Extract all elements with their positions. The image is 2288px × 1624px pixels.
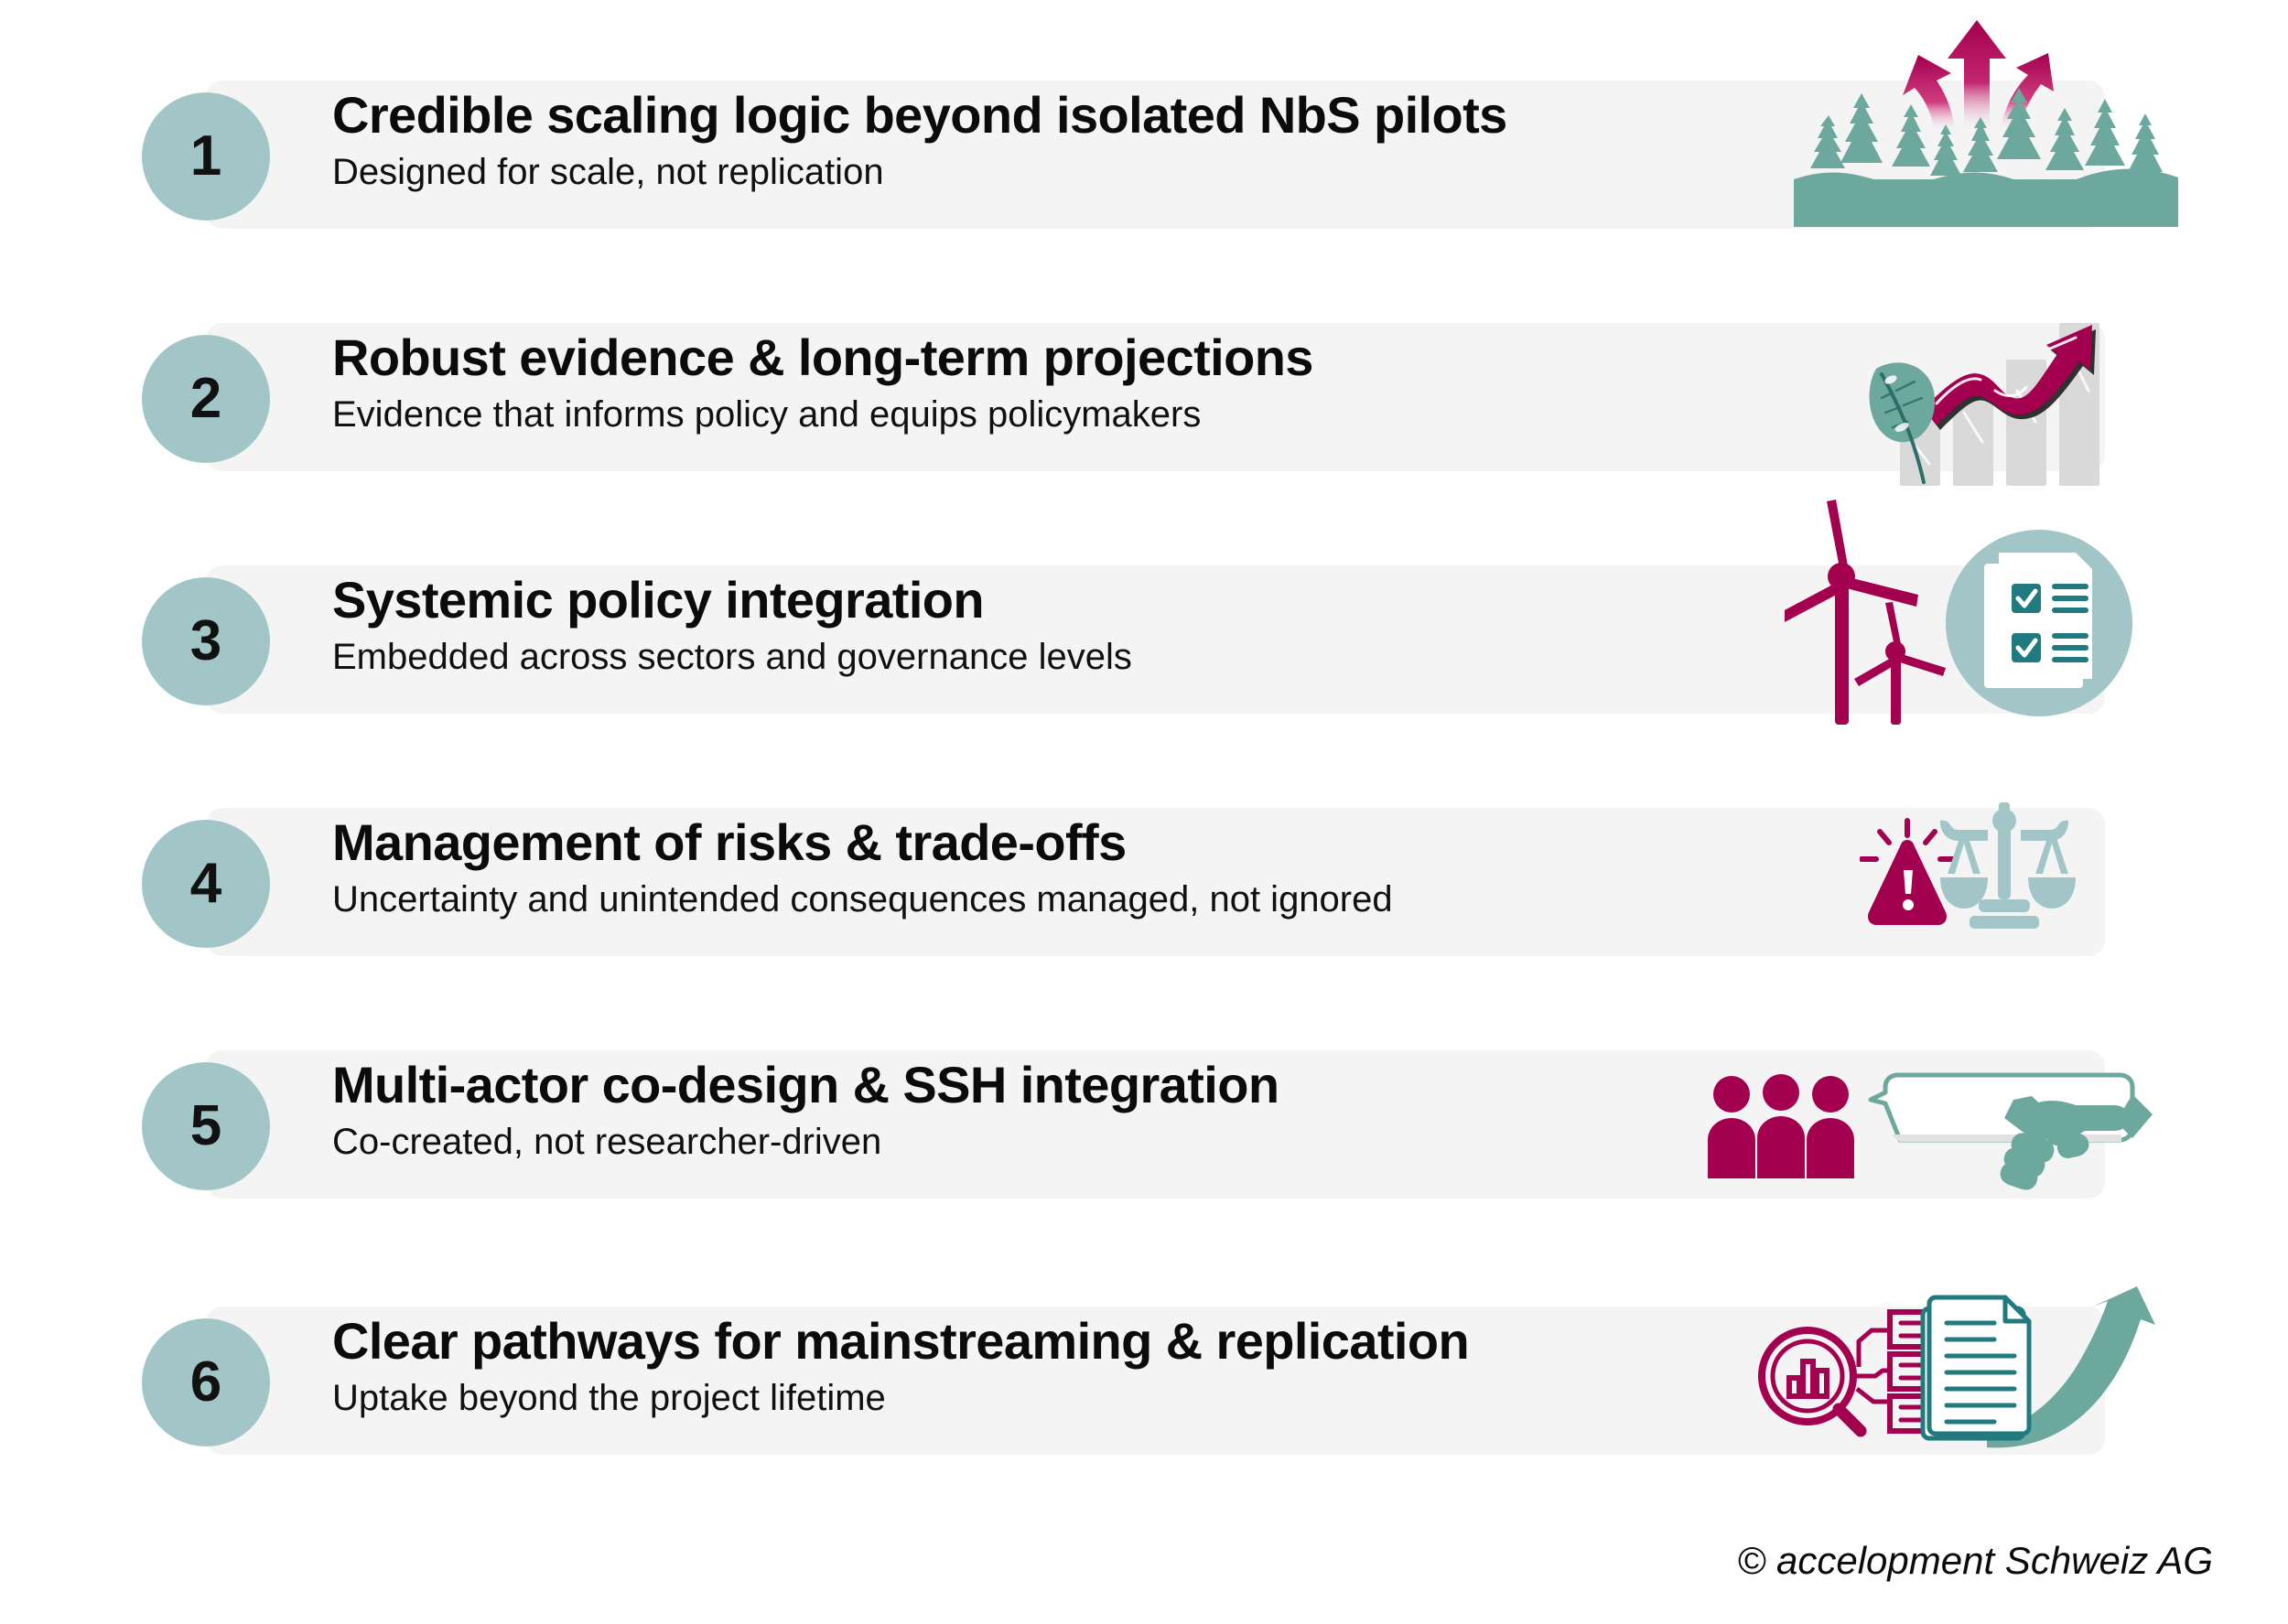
step-number-label: 6 [190, 1354, 221, 1411]
step-number-label: 4 [190, 855, 221, 912]
criterion-row: 4 Management of risks & trade-offs Uncer… [0, 808, 2288, 1050]
row-text-block: Clear pathways for mainstreaming & repli… [332, 1314, 1705, 1419]
criterion-row: 5 Multi-actor co-design & SSH integratio… [0, 1050, 2288, 1293]
step-number-badge: 3 [142, 577, 270, 705]
row-title: Multi-actor co-design & SSH integration [332, 1058, 1705, 1113]
criterion-row: 1 Credible scaling logic beyond isolated… [0, 81, 2288, 323]
row-text-block: Multi-actor co-design & SSH integration … [332, 1058, 1705, 1163]
step-number-label: 3 [190, 613, 221, 670]
step-number-badge: 1 [142, 92, 270, 220]
infographic-canvas: 1 Credible scaling logic beyond isolated… [0, 0, 2288, 1624]
criterion-row: 2 Robust evidence & long-term projection… [0, 323, 2288, 565]
row-text-block: Systemic policy integration Embedded acr… [332, 573, 1705, 678]
step-number-badge: 5 [142, 1062, 270, 1190]
row-subtitle: Evidence that informs policy and equips … [332, 393, 1705, 436]
row-text-block: Robust evidence & long-term projections … [332, 330, 1705, 436]
row-title: Credible scaling logic beyond isolated N… [332, 88, 1705, 143]
row-subtitle: Uptake beyond the project lifetime [332, 1377, 1705, 1419]
criterion-row: 6 Clear pathways for mainstreaming & rep… [0, 1307, 2288, 1549]
row-subtitle: Uncertainty and unintended consequences … [332, 878, 1705, 920]
step-number-label: 5 [190, 1098, 221, 1155]
step-number-label: 1 [190, 128, 221, 185]
row-title: Management of risks & trade-offs [332, 815, 1705, 870]
criterion-row: 3 Systemic policy integration Embedded a… [0, 565, 2288, 808]
row-text-block: Management of risks & trade-offs Uncerta… [332, 815, 1705, 920]
step-number-badge: 4 [142, 820, 270, 948]
row-title: Robust evidence & long-term projections [332, 330, 1705, 385]
row-subtitle: Co-created, not researcher-driven [332, 1121, 1705, 1163]
step-number-label: 2 [190, 371, 221, 427]
row-title: Clear pathways for mainstreaming & repli… [332, 1314, 1705, 1369]
row-text-block: Credible scaling logic beyond isolated N… [332, 88, 1705, 193]
step-number-badge: 6 [142, 1318, 270, 1447]
row-title: Systemic policy integration [332, 573, 1705, 628]
copyright-notice: © accelopment Schweiz AG [1737, 1539, 2213, 1583]
row-subtitle: Designed for scale, not replication [332, 151, 1705, 193]
row-subtitle: Embedded across sectors and governance l… [332, 636, 1705, 678]
step-number-badge: 2 [142, 335, 270, 463]
